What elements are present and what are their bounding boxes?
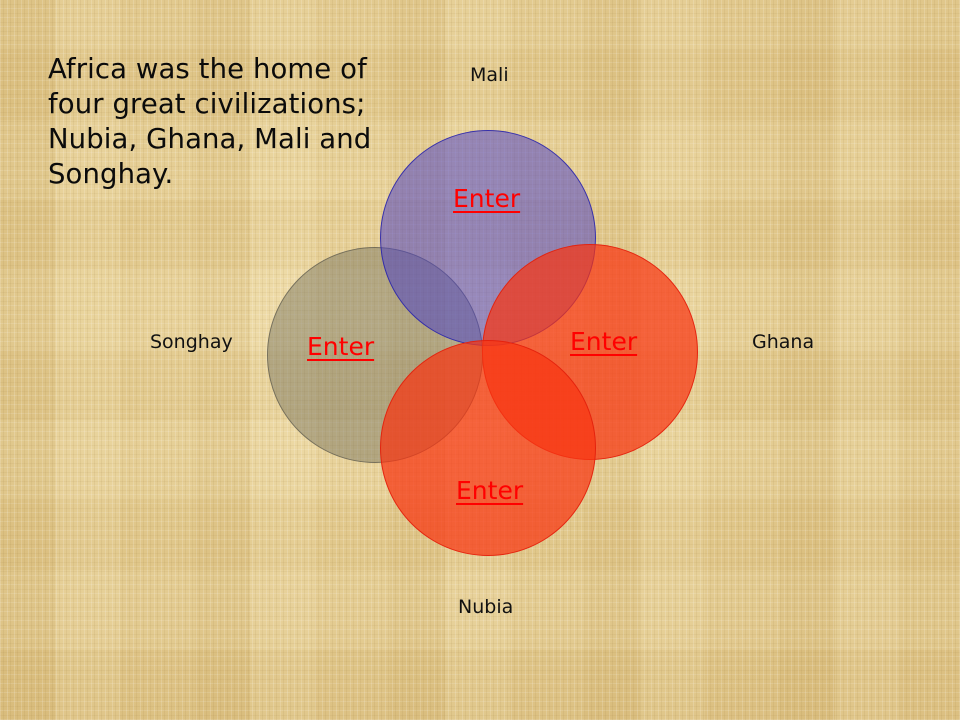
enter-link-songhay[interactable]: Enter: [307, 334, 374, 359]
presentation-slide: Africa was the home of four great civili…: [0, 0, 960, 720]
venn-label-ghana: Ghana: [752, 333, 814, 352]
venn-label-nubia: Nubia: [458, 598, 513, 617]
venn-label-songhay: Songhay: [150, 333, 233, 352]
venn-diagram: Enter Enter Enter Enter Mali Ghana Nubia…: [0, 0, 960, 720]
venn-label-mali: Mali: [470, 66, 509, 85]
venn-circle-nubia[interactable]: [380, 340, 596, 556]
enter-link-mali[interactable]: Enter: [453, 186, 520, 211]
enter-link-nubia[interactable]: Enter: [456, 478, 523, 503]
enter-link-ghana[interactable]: Enter: [570, 329, 637, 354]
